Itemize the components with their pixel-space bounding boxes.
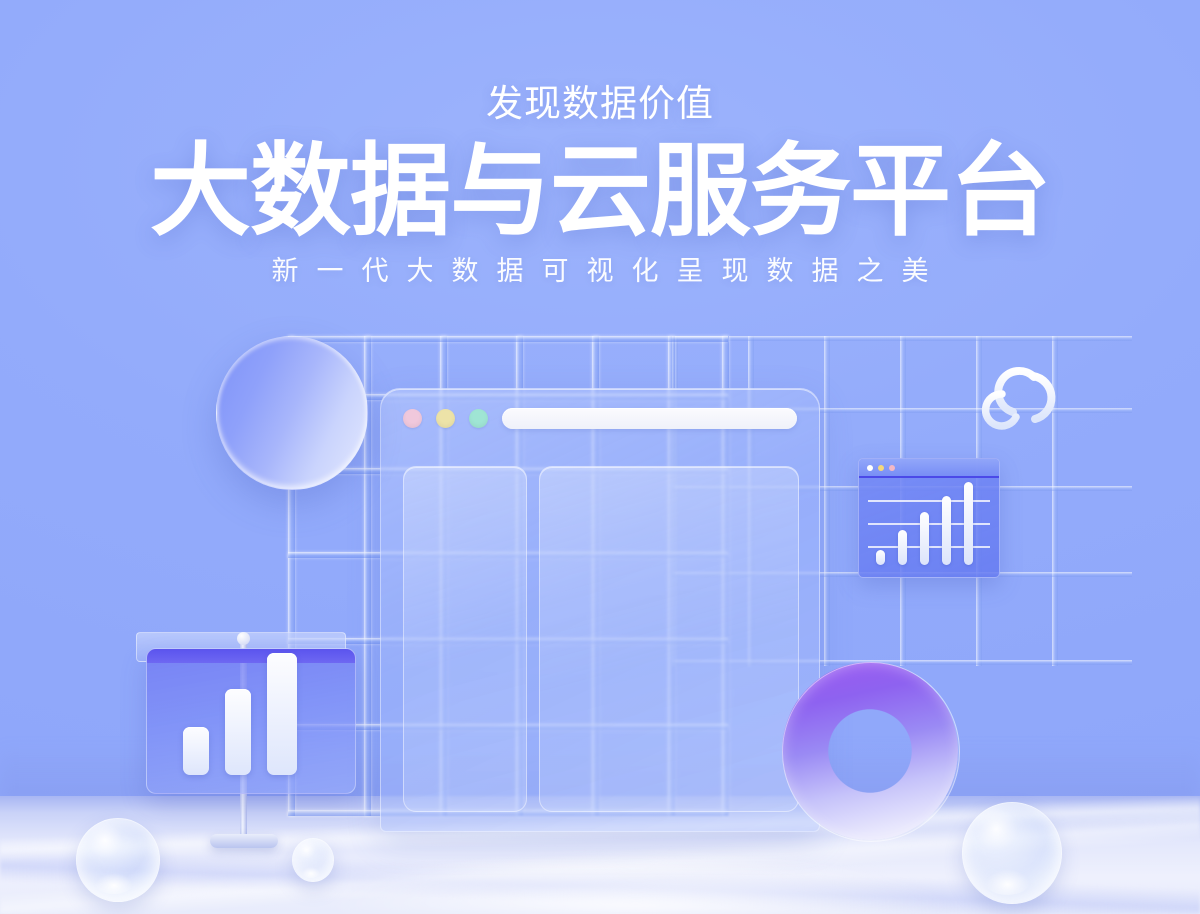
maximize-dot[interactable]	[469, 409, 488, 428]
subtitle: 新一代大数据可视化呈现数据之美	[0, 255, 1200, 287]
bar	[225, 689, 251, 775]
stand-pole-cap	[237, 632, 250, 645]
close-dot[interactable]	[867, 465, 873, 471]
board-header-strip	[147, 649, 355, 663]
address-bar-input[interactable]	[502, 408, 797, 429]
analytics-mini-window[interactable]	[858, 458, 1000, 578]
close-dot[interactable]	[403, 409, 422, 428]
mini-window-title-bar	[859, 459, 999, 478]
page-title: 大数据与云服务平台	[0, 139, 1200, 245]
glass-sphere-right	[962, 802, 1062, 904]
glass-sphere-center	[292, 838, 334, 882]
glass-sphere-left	[76, 818, 160, 902]
sidebar-pane[interactable]	[403, 466, 527, 812]
cloud-icon	[972, 360, 1064, 430]
maximize-dot[interactable]	[889, 465, 895, 471]
board-bar-chart	[146, 648, 356, 794]
bar	[898, 530, 907, 565]
mini-window-bar-chart	[859, 478, 999, 577]
board-panel[interactable]	[130, 632, 360, 868]
bar	[267, 653, 297, 775]
bar	[920, 512, 929, 565]
tagline: 发现数据价值	[0, 84, 1200, 125]
content-pane[interactable]	[539, 466, 799, 812]
stand-foot	[210, 834, 278, 848]
gradient-donut	[782, 662, 958, 840]
browser-window[interactable]	[380, 388, 820, 832]
bar	[876, 550, 885, 565]
browser-title-bar	[381, 389, 819, 447]
minimize-dot[interactable]	[436, 409, 455, 428]
bar	[183, 727, 209, 775]
hero-banner: 发现数据价值 大数据与云服务平台 新一代大数据可视化呈现数据之美	[0, 0, 1200, 914]
headline-block: 发现数据价值 大数据与云服务平台 新一代大数据可视化呈现数据之美	[0, 84, 1200, 287]
bar	[964, 482, 973, 565]
minimize-dot[interactable]	[878, 465, 884, 471]
bar	[942, 496, 951, 565]
frosted-disc	[216, 336, 368, 490]
